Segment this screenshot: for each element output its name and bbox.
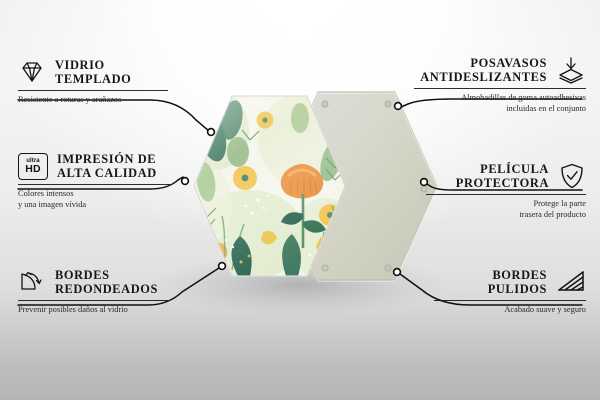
feature-vidrio-templado: VIDRIO TEMPLADO Resistente a roturas y a…	[18, 58, 168, 106]
anti-slip-pad-icon	[556, 56, 586, 84]
feature-bordes-redondeados: BORDES REDONDEADOS Prevenir posibles dañ…	[18, 268, 168, 316]
feature-title: IMPRESIÓN DE	[57, 152, 157, 166]
feature-impresion-alta-calidad: ultra HD IMPRESIÓN DE ALTA CALIDAD Color…	[18, 152, 170, 210]
feature-title-line2: TEMPLADO	[55, 72, 131, 86]
connector-dot-vidrio-templado	[208, 129, 215, 136]
feature-description: Resistente a roturas y arañazos	[18, 95, 168, 105]
feature-pelicula-protectora: PELÍCULA PROTECTORA Protege la parte tra…	[426, 162, 586, 220]
feature-description: Colores intensos	[18, 189, 170, 199]
infographic-canvas: VIDRIO TEMPLADO Resistente a roturas y a…	[0, 0, 600, 400]
feature-description: Prevenir posibles daños al vidrio	[18, 305, 168, 315]
feature-description-line2: trasera del producto	[426, 210, 586, 220]
feature-description-line2: incluidas en el conjunto	[414, 104, 586, 114]
connector-dot-impresion	[182, 178, 189, 185]
diamond-icon	[18, 60, 46, 84]
feature-bordes-pulidos: BORDES PULIDOS Acabado suave y seguro	[434, 268, 586, 316]
feature-rule	[426, 194, 586, 195]
feature-description: Almohadillas de goma autoadhesivas	[414, 93, 586, 103]
feature-title-line2: ANTIDESLIZANTES	[420, 70, 547, 84]
badge-hd-label: HD	[25, 164, 41, 175]
feature-title-line2: REDONDEADOS	[55, 282, 158, 296]
polished-edge-icon	[556, 270, 586, 294]
feature-rule	[414, 88, 586, 89]
feature-rule	[18, 184, 170, 185]
connector-dot-posavasos	[395, 103, 402, 110]
rounded-corner-icon	[18, 270, 46, 294]
feature-description-line2: y una imagen vívida	[18, 200, 170, 210]
feature-title: BORDES	[488, 268, 547, 282]
feature-posavasos-antideslizantes: POSAVASOS ANTIDESLIZANTES Almohadillas d…	[414, 56, 586, 114]
feature-title: POSAVASOS	[420, 56, 547, 70]
feature-rule	[434, 300, 586, 301]
connector-dot-bordes-redondeados	[219, 263, 226, 270]
connector-dot-bordes-pulidos	[394, 269, 401, 276]
ultra-hd-badge-icon: ultra HD	[18, 153, 48, 180]
shield-check-icon	[558, 162, 586, 190]
feature-title: VIDRIO	[55, 58, 131, 72]
feature-title: PELÍCULA	[456, 162, 549, 176]
feature-description: Acabado suave y seguro	[434, 305, 586, 315]
feature-rule	[18, 90, 168, 91]
feature-description: Protege la parte	[426, 199, 586, 209]
feature-title: BORDES	[55, 268, 158, 282]
feature-title-line2: PULIDOS	[488, 282, 547, 296]
feature-title-line2: PROTECTORA	[456, 176, 549, 190]
feature-title-line2: ALTA CALIDAD	[57, 166, 157, 180]
feature-rule	[18, 300, 168, 301]
